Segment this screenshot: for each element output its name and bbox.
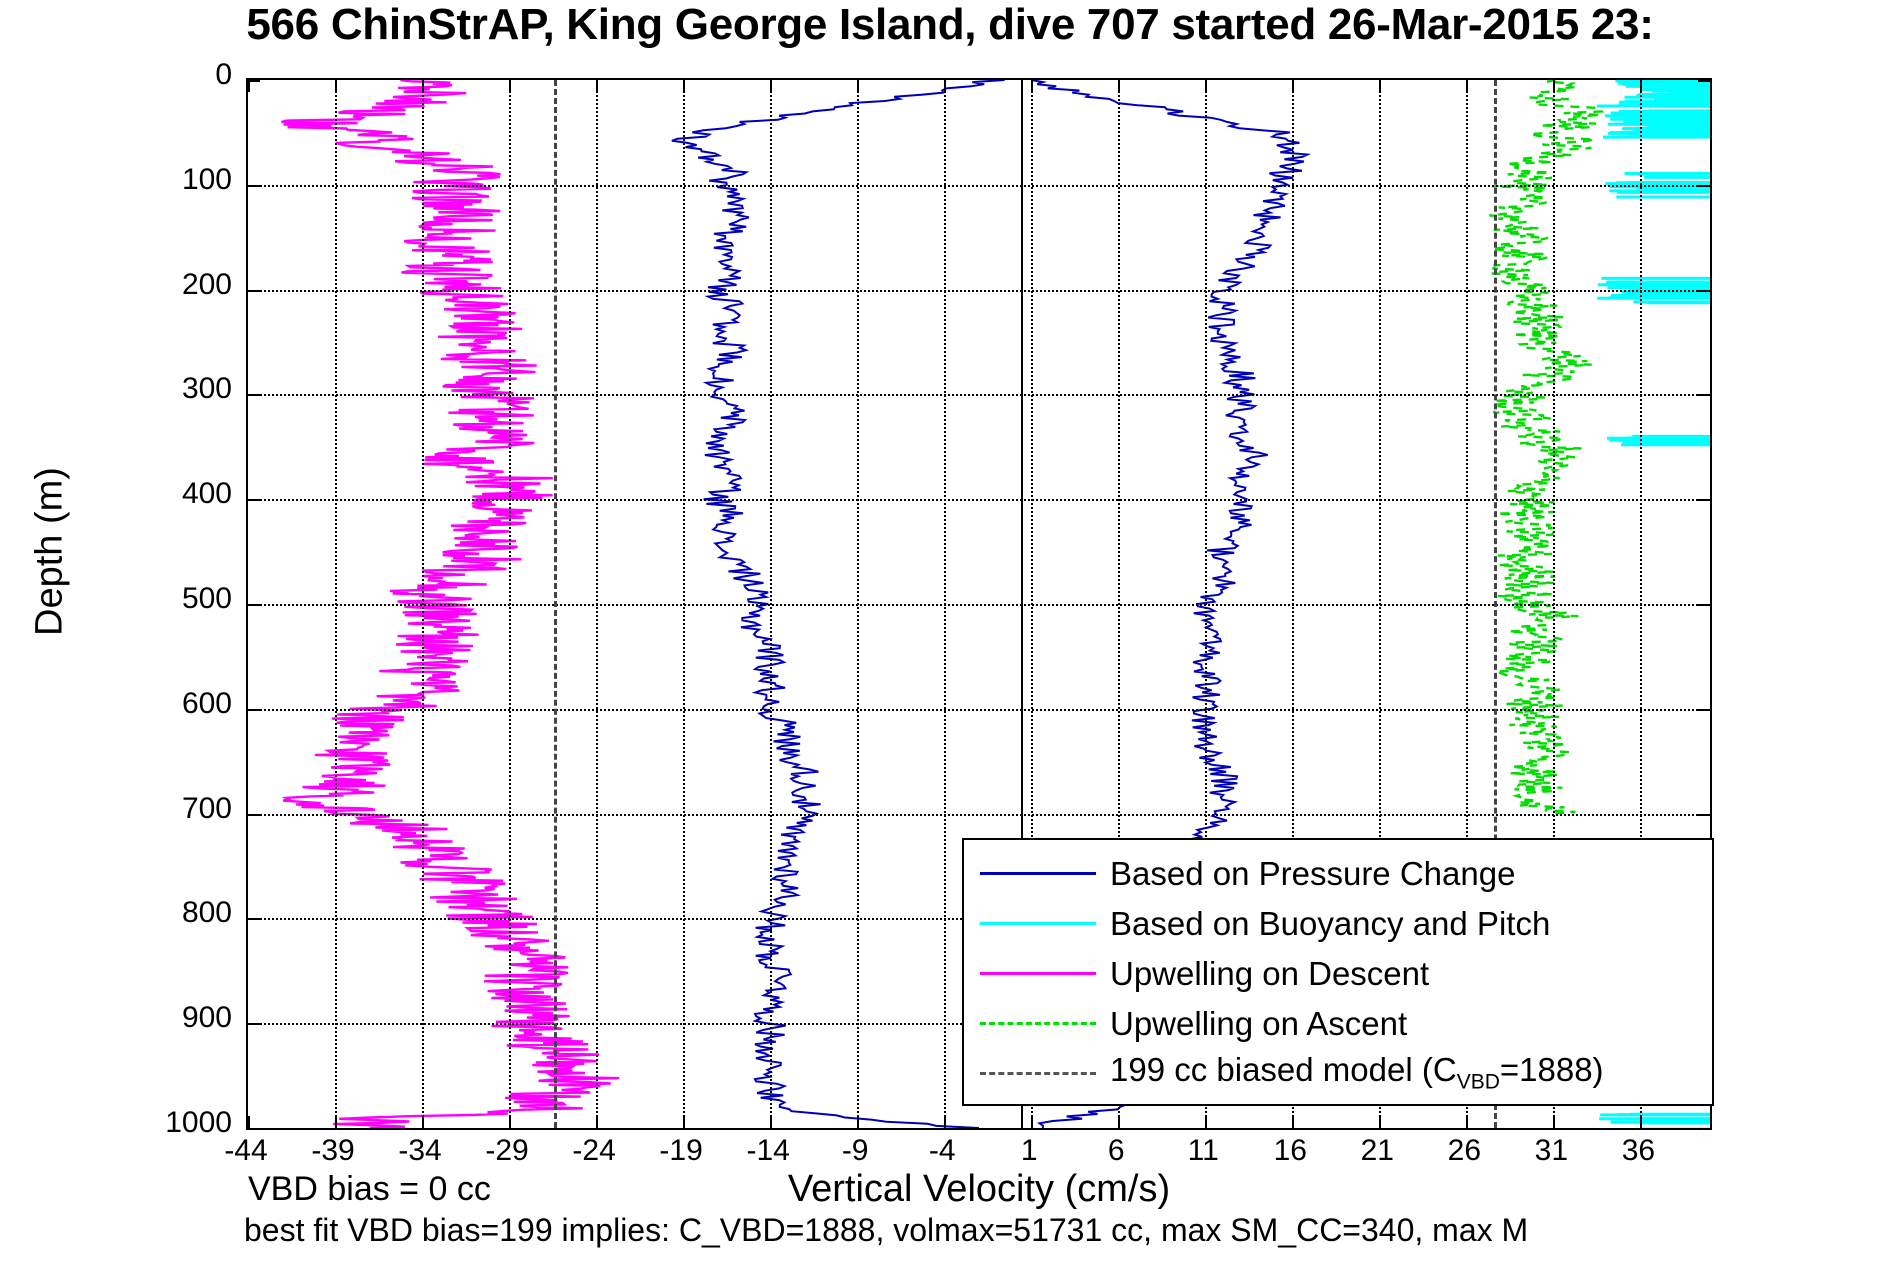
grid-line-horizontal <box>248 814 1710 816</box>
x-axis-tick <box>683 80 685 92</box>
x-axis-tick <box>248 1116 250 1128</box>
x-axis-tick <box>1031 1116 1033 1128</box>
y-axis-tick <box>248 290 260 292</box>
legend-label-buoyancy: Based on Buoyancy and Pitch <box>1110 907 1550 940</box>
legend-swatch-ascent <box>980 1013 1096 1033</box>
x-axis-tick <box>1292 80 1294 92</box>
x-tick-label: -9 <box>810 1134 900 1168</box>
footer-note: best fit VBD bias=199 implies: C_VBD=188… <box>244 1212 1528 1249</box>
y-axis-tick <box>248 709 260 711</box>
y-tick-label: 400 <box>112 477 232 511</box>
y-tick-label: 900 <box>112 1001 232 1035</box>
x-tick-label: -29 <box>462 1134 552 1168</box>
y-axis-tick <box>248 499 260 501</box>
grid-line-horizontal <box>248 394 1710 396</box>
x-tick-label: 1 <box>984 1134 1074 1168</box>
grid-line-horizontal <box>248 604 1710 606</box>
legend-swatch-descent <box>980 963 1096 983</box>
x-axis-tick <box>857 80 859 92</box>
y-axis-tick <box>1698 80 1710 82</box>
legend-swatch-model <box>980 1063 1096 1083</box>
x-axis-tick <box>335 80 337 92</box>
legend-label-ascent: Upwelling on Ascent <box>1110 1007 1407 1040</box>
y-axis-tick <box>248 918 260 920</box>
x-axis-tick <box>1466 1116 1468 1128</box>
y-axis-tick <box>1698 814 1710 816</box>
legend-label-model-part1: 199 cc biased model (C <box>1110 1051 1457 1088</box>
x-axis-tick <box>770 80 772 92</box>
y-tick-label: 600 <box>112 687 232 721</box>
y-axis-tick <box>248 814 260 816</box>
x-axis-tick <box>1031 80 1033 92</box>
y-axis-tick <box>1698 1128 1710 1130</box>
x-axis-tick <box>1292 1116 1294 1128</box>
x-tick-label: -39 <box>288 1134 378 1168</box>
x-axis-tick <box>509 1116 511 1128</box>
y-axis-title: Depth (m) <box>29 322 72 782</box>
descent-model-line <box>554 80 557 1128</box>
x-axis-tick <box>683 1116 685 1128</box>
y-axis-tick <box>248 1023 260 1025</box>
x-axis-tick <box>1205 1116 1207 1128</box>
x-axis-tick <box>422 80 424 92</box>
y-axis-tick <box>1698 394 1710 396</box>
x-tick-label: 11 <box>1158 1134 1248 1168</box>
legend-box: Based on Pressure Change Based on Buoyan… <box>962 838 1714 1106</box>
y-tick-label: 1000 <box>112 1106 232 1140</box>
x-axis-tick <box>509 80 511 92</box>
y-tick-label: 200 <box>112 268 232 302</box>
y-axis-tick <box>248 185 260 187</box>
x-axis-tick <box>1205 80 1207 92</box>
y-axis-tick <box>1698 604 1710 606</box>
legend-label-pressure: Based on Pressure Change <box>1110 857 1515 890</box>
x-axis-tick <box>1466 80 1468 92</box>
x-axis-tick <box>1640 1116 1642 1128</box>
legend-item: Based on Pressure Change <box>964 848 1712 898</box>
x-axis-tick <box>944 1116 946 1128</box>
y-tick-label: 0 <box>112 58 232 92</box>
legend-label-descent: Upwelling on Descent <box>1110 957 1429 990</box>
x-axis-tick <box>1553 1116 1555 1128</box>
grid-line-horizontal <box>248 709 1710 711</box>
x-axis-tick <box>422 1116 424 1128</box>
y-axis-tick <box>248 80 260 82</box>
y-tick-label: 100 <box>112 163 232 197</box>
x-axis-tick <box>335 1116 337 1128</box>
y-tick-label: 300 <box>112 372 232 406</box>
x-tick-label: -34 <box>375 1134 465 1168</box>
legend-item: 199 cc biased model (CVBD=1888) <box>964 1048 1712 1098</box>
x-tick-label: 6 <box>1071 1134 1161 1168</box>
x-tick-label: -19 <box>636 1134 726 1168</box>
y-tick-label: 500 <box>112 582 232 616</box>
legend-swatch-buoyancy <box>980 913 1096 933</box>
y-axis-tick <box>1698 709 1710 711</box>
x-axis-tick <box>596 80 598 92</box>
x-axis-tick <box>857 1116 859 1128</box>
y-axis-tick <box>1698 185 1710 187</box>
legend-swatch-pressure <box>980 863 1096 883</box>
legend-item: Based on Buoyancy and Pitch <box>964 898 1712 948</box>
x-tick-label: 36 <box>1593 1134 1683 1168</box>
plot-canvas: 566 ChinStrAP, King George Island, dive … <box>0 0 1891 1262</box>
x-tick-label: 31 <box>1506 1134 1596 1168</box>
x-axis-tick <box>944 80 946 92</box>
x-tick-label: 16 <box>1245 1134 1335 1168</box>
x-tick-label: -24 <box>549 1134 639 1168</box>
legend-item: Upwelling on Descent <box>964 948 1712 998</box>
data-trace <box>1489 80 1601 814</box>
y-axis-tick <box>1698 499 1710 501</box>
y-tick-label: 800 <box>112 896 232 930</box>
y-axis-tick <box>248 604 260 606</box>
legend-label-model-part2: =1888) <box>1500 1051 1604 1088</box>
y-tick-label: 700 <box>112 792 232 826</box>
vbd-bias-note: VBD bias = 0 cc <box>248 1170 491 1209</box>
x-axis-tick <box>596 1116 598 1128</box>
y-axis-tick <box>248 1128 260 1130</box>
x-tick-label: -14 <box>723 1134 813 1168</box>
legend-label-model: 199 cc biased model (CVBD=1888) <box>1110 1053 1604 1093</box>
x-axis-tick <box>1640 80 1642 92</box>
y-axis-tick <box>1698 290 1710 292</box>
x-tick-label: 21 <box>1332 1134 1422 1168</box>
legend-label-model-sub: VBD <box>1457 1071 1500 1094</box>
x-tick-label: -4 <box>897 1134 987 1168</box>
grid-line-horizontal <box>248 499 1710 501</box>
grid-line-horizontal <box>248 290 1710 292</box>
x-axis-tick <box>1379 1116 1381 1128</box>
x-axis-tick <box>1118 80 1120 92</box>
grid-line-horizontal <box>248 185 1710 187</box>
x-axis-tick <box>770 1116 772 1128</box>
y-axis-tick <box>248 394 260 396</box>
x-axis-tick <box>1379 80 1381 92</box>
page-title: 566 ChinStrAP, King George Island, dive … <box>0 2 1891 48</box>
x-tick-label: 26 <box>1419 1134 1509 1168</box>
legend-item: Upwelling on Ascent <box>964 998 1712 1048</box>
x-axis-tick <box>1553 80 1555 92</box>
x-axis-tick <box>1118 1116 1120 1128</box>
